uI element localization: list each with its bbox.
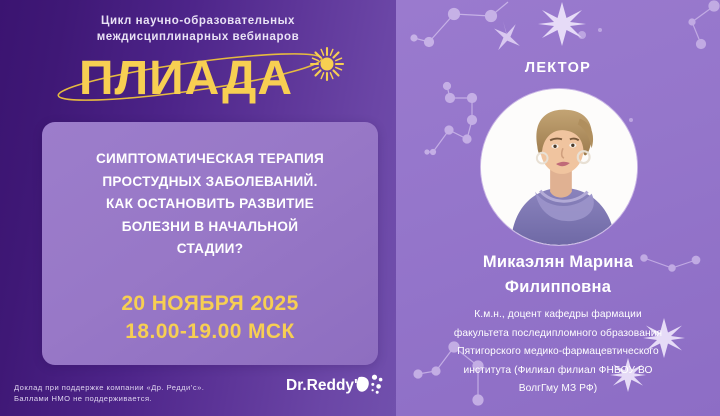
lecturer-name-line-1: Микаэлян Марина [408, 250, 708, 275]
dr-reddys-droplet-icon [357, 375, 383, 394]
header-subtitle: Цикл научно-образовательных междисциплин… [0, 13, 396, 45]
credentials-line-4: института (Филиал филиал ФНБОУ ВО [404, 362, 712, 381]
right-panel: ЛЕКТОР [396, 0, 720, 416]
star-burst-icon [490, 21, 523, 54]
credentials-line-3: Пятигорского медико-фармацевтического [404, 343, 712, 362]
topic-title-line-4: БОЛЕЗНИ В НАЧАЛЬНОЙ [58, 216, 362, 239]
topic-title-line-2: ПРОСТУДНЫХ ЗАБОЛЕВАНИЙ. [58, 171, 362, 194]
event-time: 18.00-19.00 МСК [58, 318, 362, 346]
sponsor-logo-svg: Dr.Reddy's [286, 373, 384, 397]
event-date: 20 НОЯБРЯ 2025 [58, 290, 362, 318]
constellation-icon [425, 83, 477, 155]
sponsor-name: Dr.Reddy's [286, 377, 366, 394]
lecturer-name: Микаэлян Марина Филипповна [408, 250, 708, 300]
sponsor-logo: Dr.Reddy's [286, 373, 384, 402]
topic-title: СИМПТОМАТИЧЕСКАЯ ТЕРАПИЯ ПРОСТУДНЫХ ЗАБО… [58, 148, 362, 261]
lector-label: ЛЕКТОР [396, 60, 720, 76]
header-line-2: междисциплинарных вебинаров [0, 29, 396, 45]
brand-logo-svg: ПЛИАДА [0, 46, 396, 108]
credentials-line-1: К.м.н., доцент кафедры фармации [404, 306, 712, 325]
event-datetime: 20 НОЯБРЯ 2025 18.00-19.00 МСК [58, 290, 362, 346]
topic-title-line-3: КАК ОСТАНОВИТЬ РАЗВИТИЕ [58, 193, 362, 216]
credentials-line-5: ВолгГму МЗ РФ) [404, 380, 712, 399]
credentials-line-2: факультета последипломного образования [404, 325, 712, 344]
lecturer-credentials: К.м.н., доцент кафедры фармации факульте… [404, 306, 712, 399]
brand-wordmark: ПЛИАДА [79, 52, 293, 105]
left-panel: Цикл научно-образовательных междисциплин… [0, 0, 396, 416]
lecturer-name-line-2: Филипповна [408, 275, 708, 300]
webinar-banner: Цикл научно-образовательных междисциплин… [0, 0, 720, 416]
lecturer-portrait [481, 89, 637, 245]
brand-logo: ПЛИАДА [0, 46, 396, 108]
sun-burst-icon [311, 48, 343, 80]
constellation-icon [411, 2, 508, 47]
topic-card: СИМПТОМАТИЧЕСКАЯ ТЕРАПИЯ ПРОСТУДНЫХ ЗАБО… [42, 122, 378, 365]
disclaimer: Доклад при поддержке компании «Др. Редди… [14, 382, 264, 404]
lecturer-photo [480, 88, 638, 246]
disclaimer-line-2: Баллами НМО не поддерживается. [14, 393, 264, 404]
topic-title-line-1: СИМПТОМАТИЧЕСКАЯ ТЕРАПИЯ [58, 148, 362, 171]
disclaimer-line-1: Доклад при поддержке компании «Др. Редди… [14, 382, 264, 393]
topic-title-line-5: СТАДИИ? [58, 238, 362, 261]
header-line-1: Цикл научно-образовательных [0, 13, 396, 29]
constellation-icon [689, 1, 719, 49]
star-burst-icon [538, 2, 586, 46]
